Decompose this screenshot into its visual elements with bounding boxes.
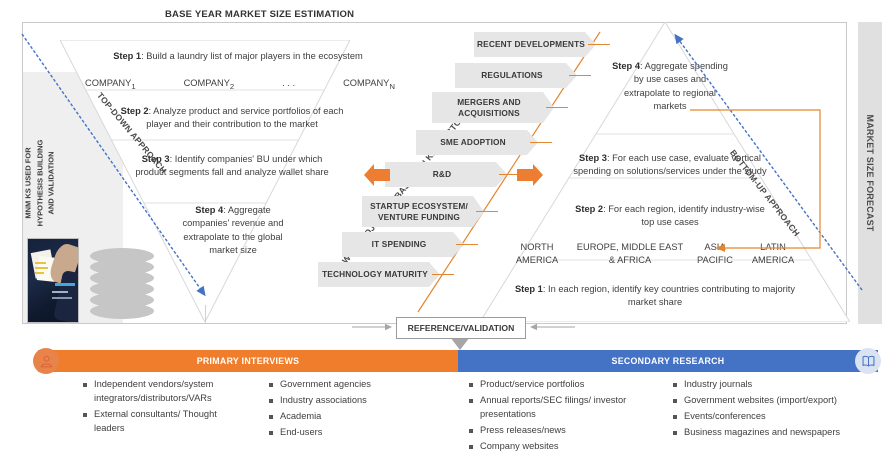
- person-icon: [33, 348, 59, 374]
- arrow-down-to-bars: [450, 337, 470, 351]
- list-item: Events/conferences: [672, 410, 882, 424]
- list-item: Press releases/news: [468, 424, 643, 438]
- primary-interviews-title: PRIMARY INTERVIEWS: [197, 356, 300, 366]
- arrow-into-reference-left: [352, 320, 398, 334]
- key-factor-startup-ecosystem[interactable]: STARTUP ECOSYSTEM/ VENTURE FUNDING: [362, 196, 484, 227]
- secondary-research-title: SECONDARY RESEARCH: [612, 356, 725, 366]
- reference-validation-box[interactable]: REFERENCE/VALIDATION: [396, 317, 526, 339]
- key-factor-it-spending[interactable]: IT SPENDING: [342, 232, 464, 257]
- list-item: Academia: [268, 410, 438, 424]
- company-ellipsis: . . .: [282, 78, 295, 91]
- primary-column-2: Government agencies Industry association…: [268, 378, 438, 442]
- list-item: Product/service portfolios: [468, 378, 643, 392]
- secondary-column-1: Product/service portfolios Annual report…: [468, 378, 643, 456]
- list-item: Business magazines and newspapers: [672, 426, 882, 440]
- arrow-left-orange: [364, 164, 392, 186]
- company-n: COMPANYN: [343, 78, 395, 91]
- orange-feedback-connector: [690, 96, 835, 266]
- list-item: Independent vendors/system integrators/d…: [82, 378, 242, 406]
- secondary-research-bar[interactable]: SECONDARY RESEARCH: [458, 350, 878, 372]
- pyramid-stem: [205, 305, 206, 323]
- book-icon: [855, 348, 881, 374]
- list-item: External consultants/ Thought leaders: [82, 408, 242, 436]
- list-item: Annual reports/SEC filings/ investor pre…: [468, 394, 643, 422]
- connector-8: [432, 274, 454, 275]
- list-item: Company websites: [468, 440, 643, 454]
- list-item: Government websites (import/export): [672, 394, 882, 408]
- primary-column-1: Independent vendors/system integrators/d…: [82, 378, 242, 438]
- arrow-into-reference-right: [523, 320, 579, 334]
- primary-interviews-bar[interactable]: PRIMARY INTERVIEWS: [38, 350, 458, 372]
- list-item: Government agencies: [268, 378, 438, 392]
- secondary-column-2: Industry journals Government websites (i…: [672, 378, 882, 442]
- list-item: Industry associations: [268, 394, 438, 408]
- list-item: End-users: [268, 426, 438, 440]
- connector-7: [456, 244, 478, 245]
- key-factor-technology-maturity[interactable]: TECHNOLOGY MATURITY: [318, 262, 440, 287]
- top-down-arrow: [14, 26, 224, 306]
- list-item: Industry journals: [672, 378, 882, 392]
- page-title: BASE YEAR MARKET SIZE ESTIMATION: [165, 9, 354, 20]
- region-north-america: NORTH AMERICA: [502, 241, 572, 266]
